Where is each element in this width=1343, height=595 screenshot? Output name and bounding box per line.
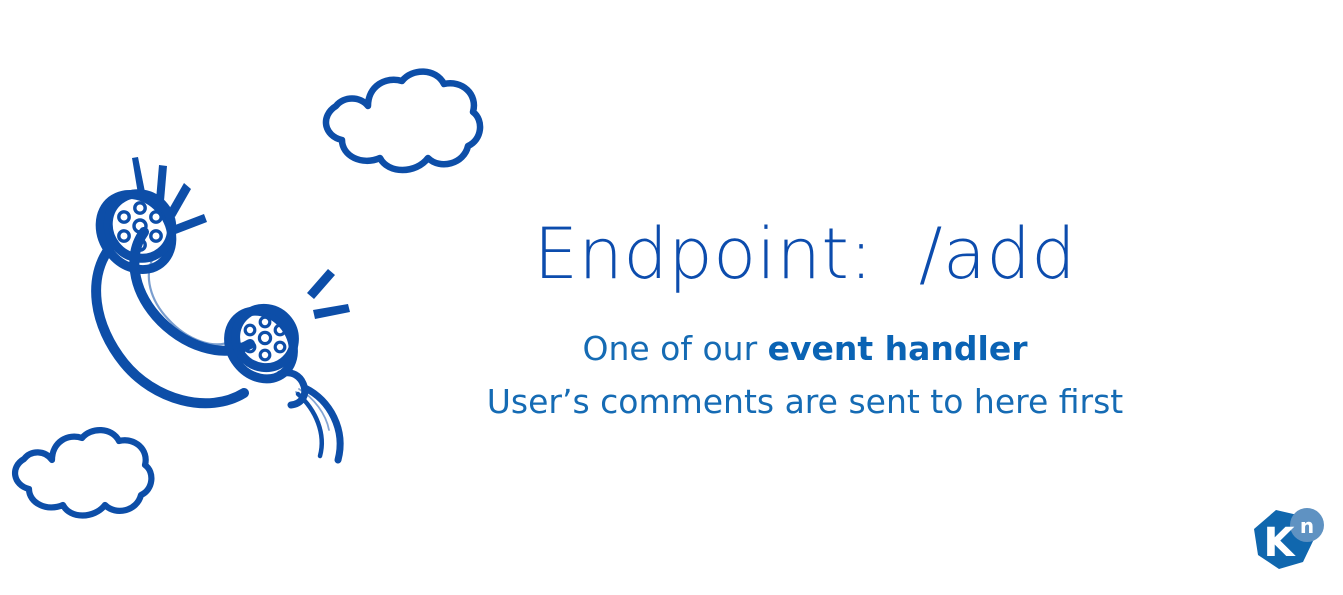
cord-hatch-1 <box>296 392 322 434</box>
handset-body-outer <box>96 246 244 403</box>
knative-logo-icon: K n <box>1246 506 1324 578</box>
earpiece-lower-rim <box>215 298 307 392</box>
motion-lines-lower <box>307 269 350 319</box>
logo-letter-n: n <box>1300 514 1314 538</box>
earpiece-upper-holes <box>119 203 161 250</box>
cloud-illustration-bottom <box>2 422 164 528</box>
subtitle-line-1: One of our event handler <box>420 323 1190 376</box>
telephone-handset-illustration <box>58 138 388 468</box>
cord-connector <box>280 373 305 405</box>
cloud-illustration-top <box>312 62 488 188</box>
handset-body-inner <box>134 232 250 351</box>
page-title: Endpoint: /add <box>420 215 1190 293</box>
text-block: Endpoint: /add One of our event handler … <box>420 215 1190 429</box>
cord-hatch-2 <box>299 389 329 430</box>
subtitle-block: One of our event handler User’s comments… <box>420 323 1190 429</box>
subtitle-line-2: User’s comments are sent to here first <box>420 376 1190 429</box>
earpiece-lower-shade <box>238 322 243 361</box>
earpiece-upper-shade <box>110 208 116 250</box>
slide-canvas: Endpoint: /add One of our event handler … <box>0 0 1343 595</box>
cloud-icon-top <box>312 62 488 188</box>
knative-logo: K n <box>1246 506 1324 578</box>
handset-highlight <box>149 258 232 344</box>
subtitle-line-1-prefix: One of our <box>582 329 767 368</box>
earpiece-lower-holes <box>245 317 285 360</box>
logo-letter-k: K <box>1264 520 1297 566</box>
subtitle-line-1-emphasis: event handler <box>768 329 1028 368</box>
earpiece-upper-face <box>95 181 184 271</box>
cord-outer <box>305 388 340 460</box>
cord-inner <box>298 394 322 456</box>
cloud-icon-bottom <box>2 422 164 528</box>
telephone-handset-icon <box>58 138 388 468</box>
motion-lines-upper <box>132 157 207 235</box>
earpiece-upper-rim <box>85 180 186 284</box>
earpiece-lower-face <box>224 297 307 380</box>
